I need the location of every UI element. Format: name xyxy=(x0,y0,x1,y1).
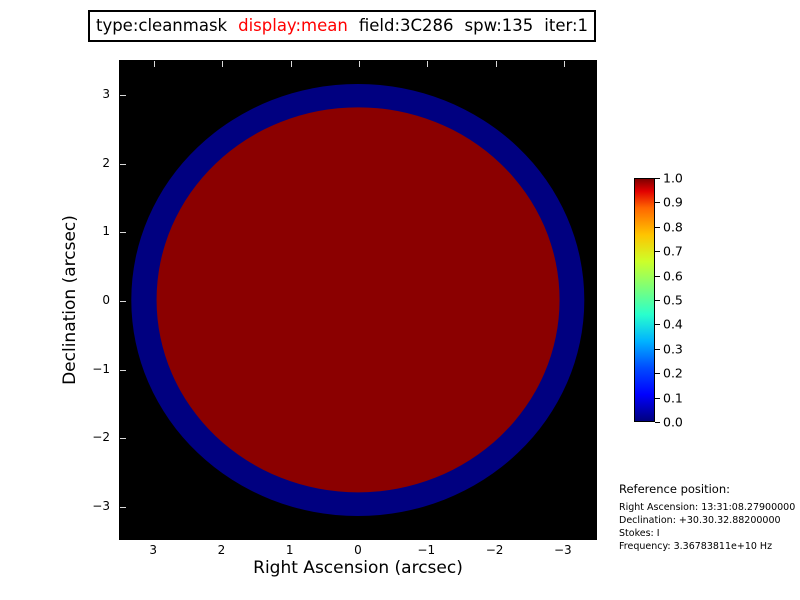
colorbar-tick-label: 0.5 xyxy=(663,293,683,308)
colorbar-tick-mark xyxy=(655,422,660,423)
plot-title-bar: type:cleanmask display:mean field:3C286 … xyxy=(88,10,596,42)
colorbar-tick-mark xyxy=(655,349,660,350)
x-tick-mark xyxy=(359,61,360,67)
title-item-field: field:3C286 xyxy=(359,18,454,35)
reference-position-block: Reference position: Right Ascension: 13:… xyxy=(619,482,799,553)
x-tick-mark xyxy=(496,61,497,67)
y-tick-label: −2 xyxy=(80,430,110,444)
reference-stokes: Stokes: I xyxy=(619,527,799,540)
y-tick-mark xyxy=(120,507,126,508)
colorbar-tick-label: 0.6 xyxy=(663,268,683,283)
x-tick-label: −3 xyxy=(554,543,572,557)
title-item-type: type:cleanmask xyxy=(96,18,227,35)
y-tick-label: 1 xyxy=(80,224,110,238)
x-tick-mark xyxy=(222,61,223,67)
title-item-iter: iter:1 xyxy=(544,18,588,35)
y-axis-title: Declination (arcsec) xyxy=(60,60,80,540)
colorbar-tick-label: 1.0 xyxy=(663,171,683,186)
colorbar-tick-mark xyxy=(655,178,660,179)
colorbar-tick-label: 0.3 xyxy=(663,341,683,356)
colorbar-tick-mark xyxy=(655,251,660,252)
x-tick-label: 0 xyxy=(354,543,362,557)
title-item-display: display:mean xyxy=(238,18,348,35)
mask-region-inner-disk xyxy=(157,107,560,492)
y-tick-mark xyxy=(120,438,126,439)
colorbar-tick-mark xyxy=(655,324,660,325)
colorbar-tick-label: 0.1 xyxy=(663,390,683,405)
reference-frequency: Frequency: 3.36783811e+10 Hz xyxy=(619,540,799,553)
reference-declination: Declination: +30.30.32.88200000 xyxy=(619,514,799,527)
y-tick-mark xyxy=(120,301,126,302)
reference-right-ascension: Right Ascension: 13:31:08.27900000 xyxy=(619,501,799,514)
x-tick-mark xyxy=(427,61,428,67)
y-tick-label: −1 xyxy=(80,362,110,376)
colorbar-tick-mark xyxy=(655,398,660,399)
colorbar[interactable] xyxy=(634,178,655,422)
x-tick-mark xyxy=(564,61,565,67)
colorbar-tick-label: 0.9 xyxy=(663,195,683,210)
colorbar-tick-mark xyxy=(655,373,660,374)
y-tick-mark xyxy=(120,164,126,165)
x-tick-label: 1 xyxy=(286,543,294,557)
y-tick-labels: 3210−1−2−3 xyxy=(80,0,110,600)
colorbar-tick-label: 0.2 xyxy=(663,366,683,381)
x-tick-label: −2 xyxy=(486,543,504,557)
y-tick-mark xyxy=(120,232,126,233)
x-tick-mark xyxy=(154,61,155,67)
y-tick-label: 3 xyxy=(80,87,110,101)
x-tick-label: 3 xyxy=(149,543,157,557)
y-tick-label: 2 xyxy=(80,156,110,170)
x-tick-label: 2 xyxy=(218,543,226,557)
colorbar-tick-mark xyxy=(655,300,660,301)
x-axis-title: Right Ascension (arcsec) xyxy=(119,558,597,578)
title-item-spw: spw:135 xyxy=(465,18,534,35)
y-tick-mark xyxy=(120,370,126,371)
reference-heading: Reference position: xyxy=(619,482,799,496)
y-tick-mark xyxy=(120,95,126,96)
colorbar-tick-label: 0.0 xyxy=(663,415,683,430)
colorbar-tick-mark xyxy=(655,227,660,228)
colorbar-tick-label: 0.7 xyxy=(663,244,683,259)
colorbar-tick-label: 0.8 xyxy=(663,219,683,234)
colorbar-tick-mark xyxy=(655,276,660,277)
x-tick-mark xyxy=(291,61,292,67)
colorbar-tick-mark xyxy=(655,202,660,203)
image-plot-area[interactable] xyxy=(119,60,597,540)
x-tick-label: −1 xyxy=(417,543,435,557)
colorbar-tick-label: 0.4 xyxy=(663,317,683,332)
y-tick-label: −3 xyxy=(80,499,110,513)
y-tick-label: 0 xyxy=(80,293,110,307)
